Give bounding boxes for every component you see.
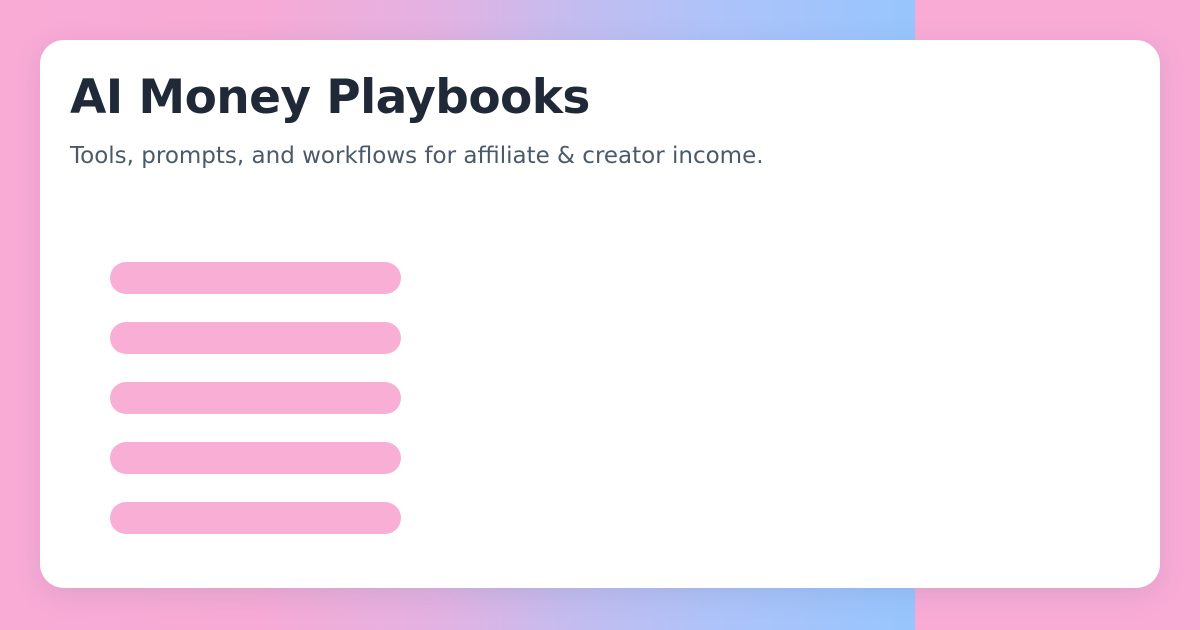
content-card: AI Money Playbooks Tools, prompts, and w… bbox=[40, 40, 1160, 588]
skeleton-bar bbox=[110, 502, 401, 534]
page-title: AI Money Playbooks bbox=[70, 72, 1120, 124]
skeleton-bar bbox=[110, 442, 401, 474]
og-preview-canvas: AI Money Playbooks Tools, prompts, and w… bbox=[0, 0, 1200, 630]
skeleton-bar bbox=[110, 262, 401, 294]
page-subtitle: Tools, prompts, and workflows for affili… bbox=[70, 142, 1120, 171]
skeleton-bar bbox=[110, 322, 401, 354]
skeleton-bar bbox=[110, 382, 401, 414]
skeleton-placeholder-list bbox=[110, 262, 401, 534]
